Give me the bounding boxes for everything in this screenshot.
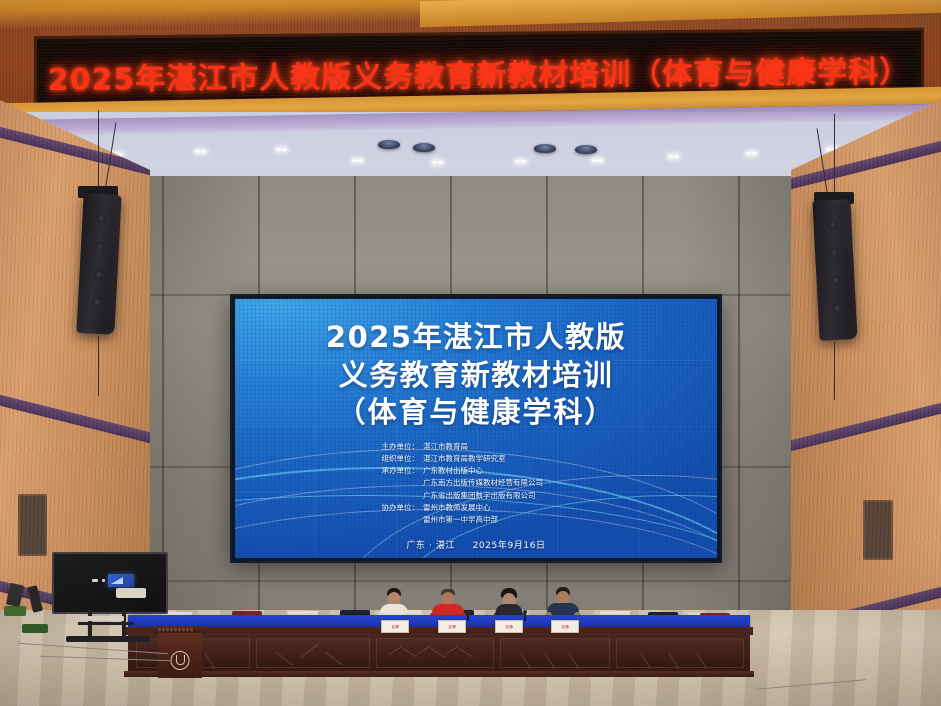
microphone — [524, 612, 526, 621]
podium-emblem-icon — [171, 651, 190, 670]
credit-label: 协办单位： — [361, 502, 419, 514]
screen-footer: 广东 · 湛江 2025年9月16日 — [406, 538, 545, 551]
screen-footer-date: 2025年9月16日 — [473, 541, 546, 551]
screen-title-line-2: 义务教育新教材培训 — [326, 357, 626, 395]
name-card: 名牌 — [438, 620, 466, 633]
screen-title: 2025年湛江市人教版 义务教育新教材培训 （体育与健康学科） — [326, 319, 626, 432]
stage-light — [534, 144, 556, 153]
credit-row: 主办单位： 湛江市教育局 — [361, 441, 717, 453]
floor-equipment — [22, 624, 48, 633]
speaker-left — [76, 186, 122, 336]
display-monitor — [52, 552, 164, 642]
floor-equipment — [4, 606, 26, 616]
credit-row: 组织单位： 湛江市教育局教学研究室 — [361, 453, 717, 465]
podium — [158, 626, 202, 678]
credit-row: 广东省出版集团数字出版有限公司 — [361, 490, 717, 502]
credit-row: 承办单位： 广东教材出版中心 — [361, 465, 717, 477]
credit-value: 雷州市第一中学高中部 — [423, 514, 498, 526]
name-card: 名牌 — [551, 620, 579, 633]
name-card: 名牌 — [495, 620, 523, 633]
credit-label: 组织单位： — [361, 453, 419, 465]
screen-footer-place: 广东 · 湛江 — [406, 541, 455, 551]
monitor-screen — [52, 552, 168, 614]
credit-value: 湛江市教育局教学研究室 — [423, 453, 506, 465]
table-front-panel — [128, 633, 750, 673]
stage-light — [575, 145, 597, 154]
stage-light — [378, 140, 400, 149]
credit-value: 广东南方出版传媒教材经营有限公司 — [423, 477, 543, 489]
credit-value: 雷州市教师发展中心 — [423, 502, 491, 514]
credit-row: 广东南方出版传媒教材经营有限公司 — [361, 477, 717, 489]
monitor-stand — [60, 610, 156, 642]
screen-title-line-3: （体育与健康学科） — [326, 394, 626, 432]
credit-label: 主办单位： — [361, 441, 419, 453]
speaker-right — [812, 192, 858, 342]
stage-light — [413, 143, 435, 152]
credit-value: 湛江市教育局 — [423, 441, 468, 453]
wall-vent — [18, 494, 47, 556]
floor-equipment — [116, 588, 146, 598]
led-display-screen: 2025年湛江市人教版 义务教育新教材培训 （体育与健康学科） 主办单位： 湛江… — [230, 294, 722, 563]
table-base-trim — [124, 671, 754, 677]
podium-body — [158, 633, 202, 678]
screen-title-line-1: 2025年湛江市人教版 — [326, 319, 626, 357]
wall-vent — [863, 500, 893, 560]
conference-hall-photo: 2025年湛江市人教版义务教育新教材培训（体育与健康学科） — [0, 0, 941, 706]
credit-label: 承办单位： — [361, 465, 419, 477]
credit-value: 广东省出版集团数字出版有限公司 — [423, 490, 536, 502]
name-card: 名牌 — [381, 620, 409, 633]
led-display-surface: 2025年湛江市人教版 义务教育新教材培训 （体育与健康学科） 主办单位： 湛江… — [235, 299, 717, 558]
monitor-shelf-device — [80, 616, 124, 621]
screen-credits-block: 主办单位： 湛江市教育局 组织单位： 湛江市教育局教学研究室 承办单位： 广东教… — [235, 441, 717, 526]
credit-row: 雷州市第一中学高中部 — [361, 514, 717, 526]
microphone — [467, 612, 469, 621]
monitor-logo-icon — [108, 574, 134, 587]
credit-value: 广东教材出版中心 — [423, 465, 483, 477]
credit-row: 协办单位： 雷州市教师发展中心 — [361, 502, 717, 514]
